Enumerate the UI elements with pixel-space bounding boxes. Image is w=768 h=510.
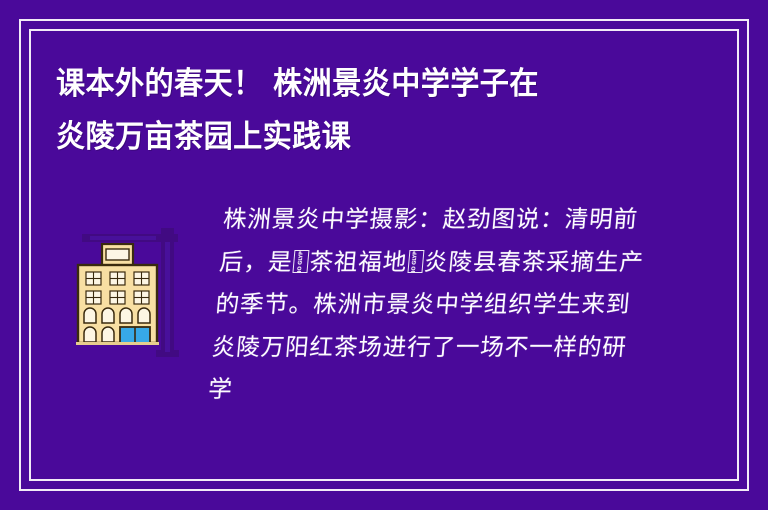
page-title: 课本外的春天！ 株洲景炎中学学子在炎陵万亩茶园上实践课 xyxy=(56,58,564,165)
building-body xyxy=(76,244,159,345)
body-segment-2: 茶祖福地 xyxy=(308,248,408,276)
school-building-icon xyxy=(62,222,190,362)
building-door xyxy=(120,327,150,343)
school-building-illustration xyxy=(62,222,190,362)
missing-glyph-label: NO GLYPH xyxy=(297,250,305,273)
missing-glyph-label: NO GLYPH xyxy=(412,250,420,273)
body-paragraph: 株洲景炎中学摄影：赵劲图说：清明前后，是NO GLYPH茶祖福地NO GLYPH… xyxy=(202,198,655,456)
poster-canvas: 课本外的春天！ 株洲景炎中学学子在炎陵万亩茶园上实践课 xyxy=(0,0,768,510)
missing-glyph-box: NO GLYPH xyxy=(293,250,310,273)
missing-glyph-box: NO GLYPH xyxy=(407,250,424,273)
